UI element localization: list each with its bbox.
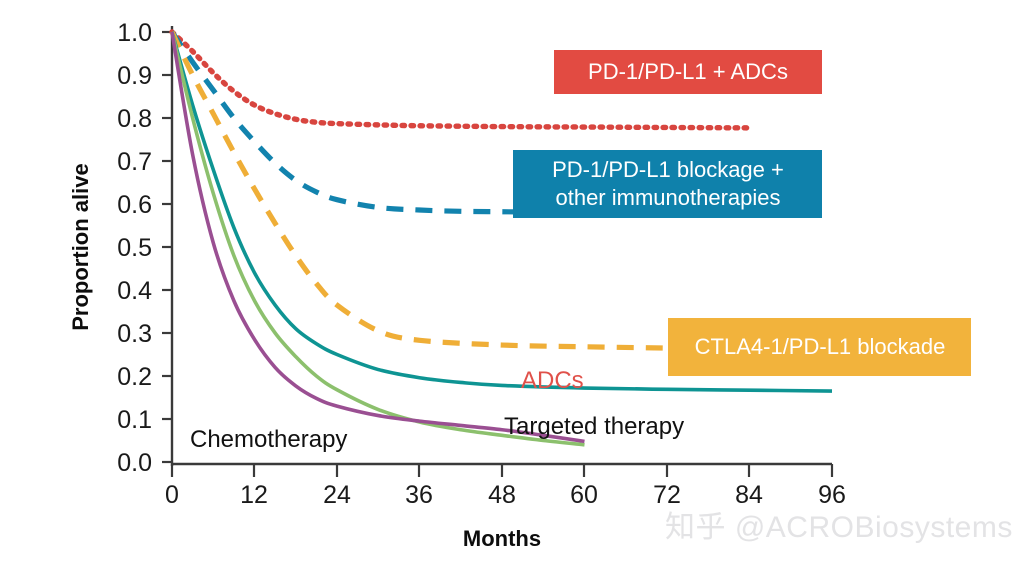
x-axis-title: Months xyxy=(463,526,541,551)
annotation-adcs: ADCs xyxy=(521,367,584,394)
watermark: 知乎 @ACROBiosystems xyxy=(665,502,1013,546)
y-tick-label: 0.1 xyxy=(117,406,152,434)
survival-curve-chart: 1.0 0.9 0.8 0.7 0.6 0.5 0.4 0.3 0.2 0.1 … xyxy=(0,0,1029,566)
y-tick-label: 0.8 xyxy=(117,105,152,133)
y-tick-label: 1.0 xyxy=(117,19,152,47)
x-tick-label: 0 xyxy=(165,481,179,509)
x-tick-label: 24 xyxy=(323,481,351,509)
legend-label-pd1-adcs: PD-1/PD-L1 + ADCs xyxy=(588,59,788,84)
x-tick-label: 48 xyxy=(488,481,516,509)
chart-page: 1.0 0.9 0.8 0.7 0.6 0.5 0.4 0.3 0.2 0.1 … xyxy=(0,0,1029,566)
y-tick-label: 0.2 xyxy=(117,363,152,391)
annotation-targeted-therapy: Targeted therapy xyxy=(504,413,684,440)
legend-label-pd1-immuno-line2: other immunotherapies xyxy=(555,185,780,210)
y-tick-label: 0.7 xyxy=(117,148,152,176)
legend-box-pd1-adcs[interactable]: PD-1/PD-L1 + ADCs xyxy=(554,50,822,94)
x-tick-label: 36 xyxy=(405,481,433,509)
y-tick-label: 0.6 xyxy=(117,191,152,219)
y-tick-label: 0.4 xyxy=(117,277,152,305)
legend-box-ctla4[interactable]: CTLA4-1/PD-L1 blockade xyxy=(668,318,971,376)
y-axis-title: Proportion alive xyxy=(68,163,93,330)
y-axis-ticks: 1.0 0.9 0.8 0.7 0.6 0.5 0.4 0.3 0.2 0.1 … xyxy=(117,19,172,477)
x-tick-label: 12 xyxy=(240,481,268,509)
y-tick-label: 0.3 xyxy=(117,320,152,348)
y-tick-label: 0.9 xyxy=(117,62,152,90)
legend-label-ctla4: CTLA4-1/PD-L1 blockade xyxy=(695,334,946,359)
x-tick-label: 60 xyxy=(570,481,598,509)
legend-label-pd1-immuno-line1: PD-1/PD-L1 blockage + xyxy=(552,157,784,182)
annotation-chemotherapy: Chemotherapy xyxy=(190,426,347,453)
y-tick-label: 0.5 xyxy=(117,234,152,262)
legend-box-pd1-immuno[interactable]: PD-1/PD-L1 blockage + other immunotherap… xyxy=(513,150,822,218)
y-tick-label: 0.0 xyxy=(117,449,152,477)
